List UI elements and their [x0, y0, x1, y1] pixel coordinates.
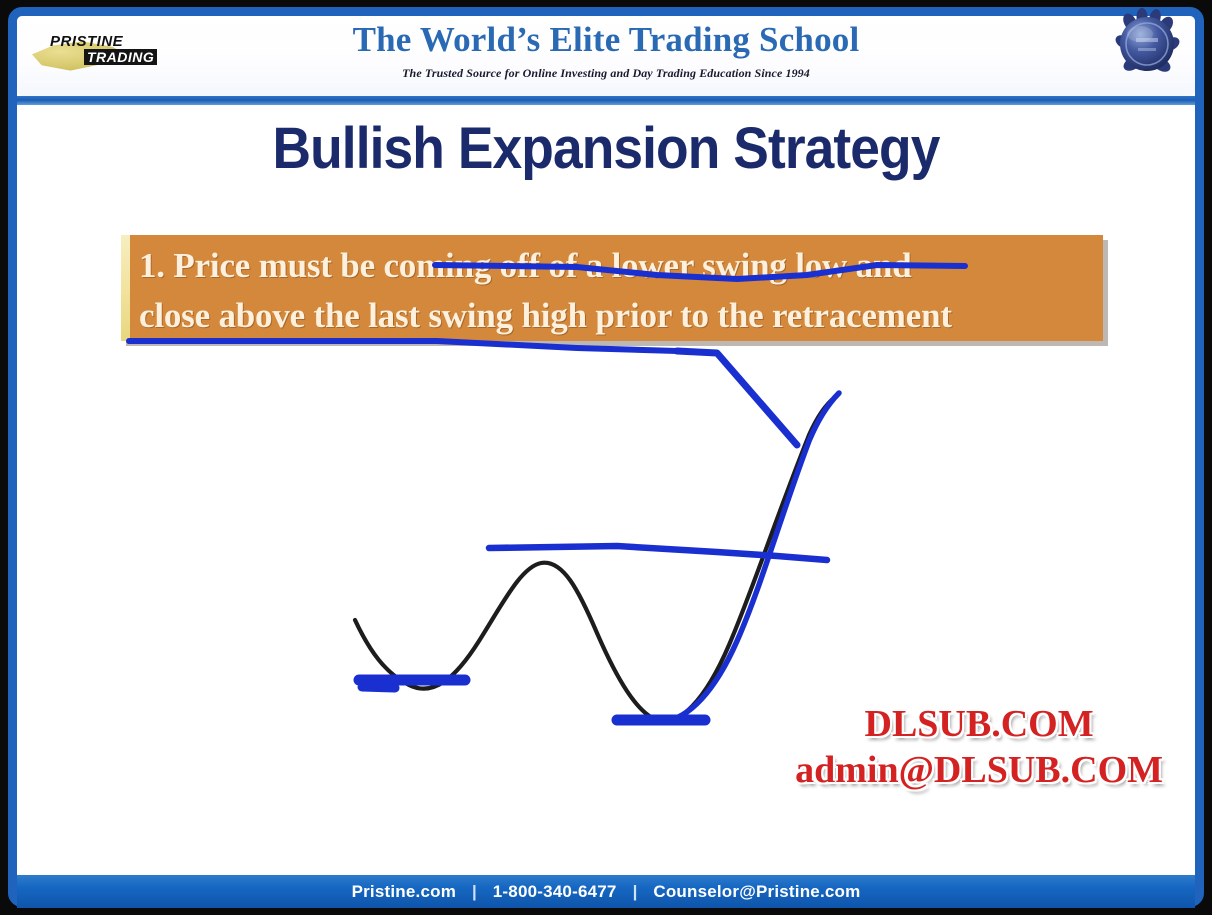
header-title: The World’s Elite Trading School	[0, 20, 1212, 60]
page-title: Bullish Expansion Strategy	[64, 119, 1148, 178]
footer-email[interactable]: Counselor@Pristine.com	[637, 882, 876, 902]
callout-line1: 1. Price must be coming off of a lower s…	[139, 241, 1095, 291]
footer-phone[interactable]: 1-800-340-6477	[477, 882, 633, 902]
text-underline-swing-high	[129, 341, 677, 351]
watermark-line2: admin@DLSUB.COM	[795, 747, 1163, 793]
footer-bar: Pristine.com | 1-800-340-6477 | Counselo…	[17, 875, 1195, 908]
footer-website[interactable]: Pristine.com	[336, 882, 472, 902]
slide-canvas: PRISTINE TRADING The World’s Elite Tradi…	[0, 0, 1212, 915]
watermark-line1: DLSUB.COM	[795, 701, 1163, 747]
header-subtitle: The Trusted Source for Online Investing …	[0, 66, 1212, 81]
price-action-curve	[355, 397, 835, 721]
expansion-leg-curve	[662, 393, 839, 722]
slide-body: Bullish Expansion Strategy 1. Price must…	[17, 105, 1195, 875]
swing-high-resistance-line	[489, 546, 827, 560]
rule-callout-box: 1. Price must be coming off of a lower s…	[121, 235, 1103, 341]
pristine-seal-icon	[1110, 8, 1184, 82]
header-divider-rule	[17, 96, 1195, 105]
callout-pointer-line	[677, 351, 797, 445]
first-swing-low-marker-tail	[362, 687, 395, 688]
callout-left-accent	[121, 235, 130, 341]
callout-line2: close above the last swing high prior to…	[139, 291, 1095, 341]
watermark: DLSUB.COM admin@DLSUB.COM	[795, 701, 1163, 793]
